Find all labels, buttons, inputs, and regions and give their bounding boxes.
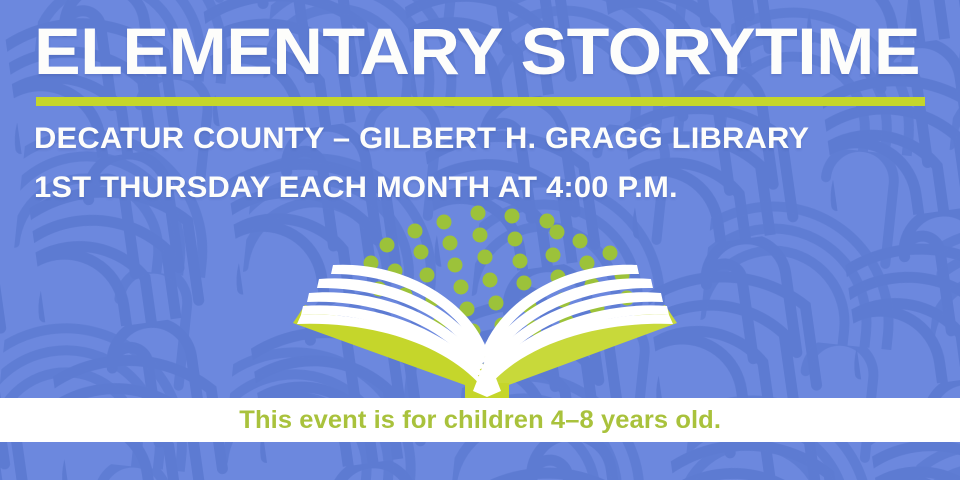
event-flyer: ELEMENTARY STORYTIME DECATUR COUNTY – GI…: [0, 0, 960, 480]
age-note-text: This event is for children 4–8 years old…: [239, 406, 721, 435]
venue-line: DECATUR COUNTY – GILBERT H. GRAGG LIBRAR…: [34, 122, 809, 156]
age-note-banner: This event is for children 4–8 years old…: [0, 398, 960, 442]
page-title: ELEMENTARY STORYTIME: [34, 14, 960, 88]
open-book-icon: [275, 205, 695, 405]
schedule-line: 1ST THURSDAY EACH MONTH AT 4:00 P.M.: [34, 171, 678, 205]
accent-divider: [36, 97, 925, 106]
